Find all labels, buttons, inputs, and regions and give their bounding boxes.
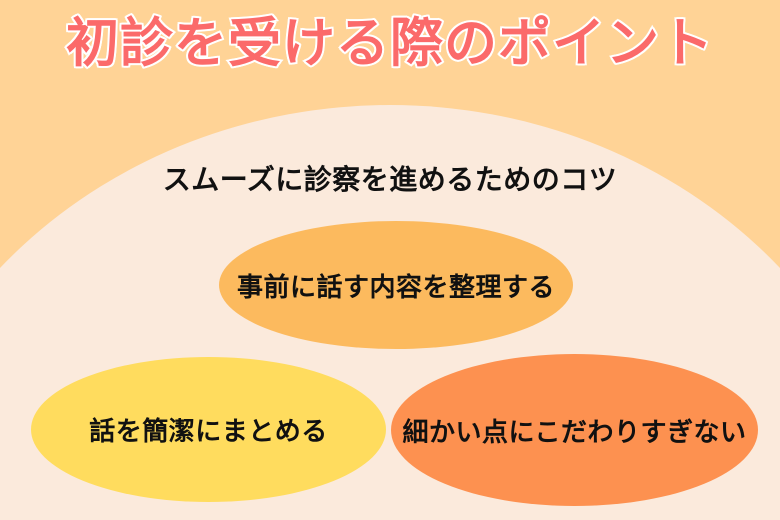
page-subtitle-container: スムーズに診察を進めるためのコツ bbox=[0, 158, 780, 198]
tip-bubble-no-details-label: 細かい点にこだわりすぎない bbox=[403, 412, 747, 449]
page-title-container: 初診を受ける際のポイント bbox=[0, 14, 780, 75]
infographic-slide: 初診を受ける際のポイント スムーズに診察を進めるためのコツ 事前に話す内容を整理… bbox=[0, 0, 780, 520]
tip-bubble-prepare: 事前に話す内容を整理する bbox=[219, 221, 573, 349]
tip-bubble-prepare-label: 事前に話す内容を整理する bbox=[237, 267, 555, 304]
page-subtitle: スムーズに診察を進めるためのコツ bbox=[163, 158, 618, 198]
tip-bubble-no-details: 細かい点にこだわりすぎない bbox=[391, 354, 758, 506]
page-title: 初診を受ける際のポイント bbox=[66, 14, 714, 75]
tip-bubble-concise: 話を簡潔にまとめる bbox=[31, 357, 386, 502]
tip-bubble-concise-label: 話を簡潔にまとめる bbox=[89, 411, 328, 448]
